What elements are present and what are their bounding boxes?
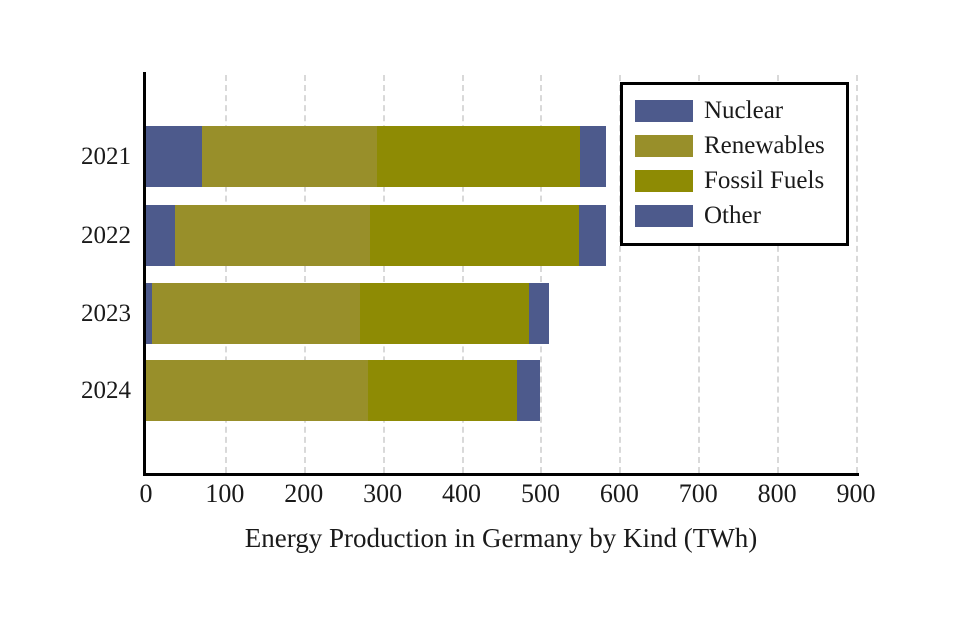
bar-row <box>146 126 606 187</box>
bar-segment <box>360 283 529 344</box>
bar-segment <box>580 126 606 187</box>
bar-segment <box>146 126 202 187</box>
y-axis-tick-labels: 2021202220232024 <box>0 75 131 473</box>
legend-label: Nuclear <box>704 97 783 124</box>
legend-swatch-icon <box>635 100 693 122</box>
legend-item[interactable]: Renewables <box>635 128 836 163</box>
x-tick-label-0: 0 <box>140 478 153 510</box>
legend-swatch-icon <box>635 205 693 227</box>
legend-item[interactable]: Fossil Fuels <box>635 163 836 198</box>
legend-label: Fossil Fuels <box>704 167 824 194</box>
bar-segment <box>368 360 517 421</box>
bar-segment <box>377 126 580 187</box>
bar-segment <box>175 205 370 266</box>
chart-figure: 2021202220232024 01002003004005006007008… <box>0 0 958 637</box>
x-tick-label-600: 600 <box>600 478 639 510</box>
x-tick-label-400: 400 <box>442 478 481 510</box>
bar-segment <box>370 205 579 266</box>
legend-swatch-icon <box>635 170 693 192</box>
bar-segment <box>146 360 368 421</box>
x-tick-label-200: 200 <box>284 478 323 510</box>
bar-row <box>146 283 549 344</box>
x-axis-tick-labels: 0100200300400500600700800900 <box>146 478 856 514</box>
bar-segment <box>517 360 540 421</box>
x-tick-label-500: 500 <box>521 478 560 510</box>
bar-row <box>146 360 540 421</box>
y-tick-label-2023: 2023 <box>41 299 131 329</box>
x-tick-label-300: 300 <box>363 478 402 510</box>
bar-row <box>146 205 606 266</box>
x-axis-title: Energy Production in Germany by Kind (TW… <box>146 521 856 555</box>
y-tick-label-2021: 2021 <box>41 142 131 172</box>
legend-swatch-icon <box>635 135 693 157</box>
bar-segment <box>579 205 606 266</box>
bar-segment <box>152 283 360 344</box>
legend-item[interactable]: Other <box>635 198 836 233</box>
x-tick-label-900: 900 <box>837 478 876 510</box>
x-tick-label-700: 700 <box>679 478 718 510</box>
x-tick-label-800: 800 <box>758 478 797 510</box>
legend-label: Other <box>704 202 761 229</box>
chart-legend: NuclearRenewablesFossil FuelsOther <box>620 82 849 246</box>
legend-item[interactable]: Nuclear <box>635 93 836 128</box>
gridline-900 <box>856 75 858 473</box>
y-tick-label-2024: 2024 <box>41 376 131 406</box>
bar-segment <box>529 283 550 344</box>
bar-segment <box>202 126 377 187</box>
x-tick-label-100: 100 <box>205 478 244 510</box>
legend-label: Renewables <box>704 132 825 159</box>
y-tick-label-2022: 2022 <box>41 221 131 251</box>
bar-segment <box>146 205 175 266</box>
x-axis-line <box>143 473 859 476</box>
